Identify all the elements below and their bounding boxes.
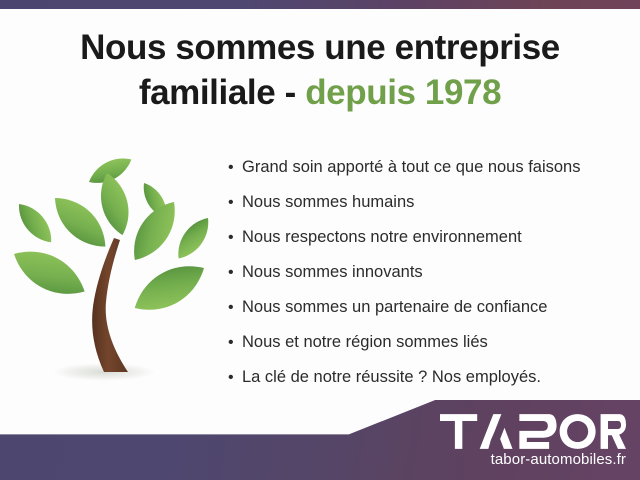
page-title-line-2: familiale - depuis 1978 [24, 71, 616, 116]
slide-canvas: Nous sommes une entreprise familiale - d… [0, 0, 640, 480]
list-item-label: Nous et notre région sommes liés [242, 325, 628, 360]
tree-leaf [126, 254, 212, 323]
list-item: • Nous respectons notre environnement [228, 220, 628, 255]
page-title: Nous sommes une entreprise familiale - d… [0, 26, 640, 116]
tree-leaf [12, 198, 59, 249]
page-title-line-2-accent: depuis 1978 [305, 73, 501, 112]
list-item-label: La clé de notre réussite ? Nos employés. [242, 360, 628, 395]
list-item-label: Grand soin apporté à tout ce que nous fa… [242, 150, 628, 185]
list-item: • Nous sommes un partenaire de confiance [228, 290, 628, 325]
brand-url[interactable]: tabor-automobiles.fr [440, 451, 626, 468]
tree-leaf-group [8, 152, 216, 323]
benefits-list: • Grand soin apporté à tout ce que nous … [228, 150, 628, 395]
tabor-wordmark-icon [440, 414, 626, 449]
bullet-icon: • [228, 185, 242, 220]
tree-trunk [92, 238, 128, 372]
list-item-label: Nous sommes un partenaire de confiance [242, 290, 628, 325]
top-accent-rule [0, 0, 640, 9]
list-item: • La clé de notre réussite ? Nos employé… [228, 360, 628, 395]
page-title-line-1: Nous sommes une entreprise [24, 26, 616, 71]
tree-leaf [8, 239, 92, 306]
bullet-icon: • [228, 325, 242, 360]
list-item-label: Nous sommes humains [242, 185, 628, 220]
brand-logo[interactable]: tabor-automobiles.fr [440, 414, 626, 468]
tree-leaf [171, 212, 216, 264]
list-item: • Nous et notre région sommes liés [228, 325, 628, 360]
bullet-icon: • [228, 150, 242, 185]
bullet-icon: • [228, 255, 242, 290]
tree-illustration [8, 150, 220, 400]
list-item: • Nous sommes humains [228, 185, 628, 220]
list-item: • Nous sommes innovants [228, 255, 628, 290]
list-item-label: Nous sommes innovants [242, 255, 628, 290]
bullet-icon: • [228, 290, 242, 325]
list-item-label: Nous respectons notre environnement [242, 220, 628, 255]
page-title-line-2-dark: familiale - [139, 73, 305, 112]
footer-band: tabor-automobiles.fr [0, 400, 640, 480]
list-item: • Grand soin apporté à tout ce que nous … [228, 150, 628, 185]
bullet-icon: • [228, 360, 242, 395]
bullet-icon: • [228, 220, 242, 255]
